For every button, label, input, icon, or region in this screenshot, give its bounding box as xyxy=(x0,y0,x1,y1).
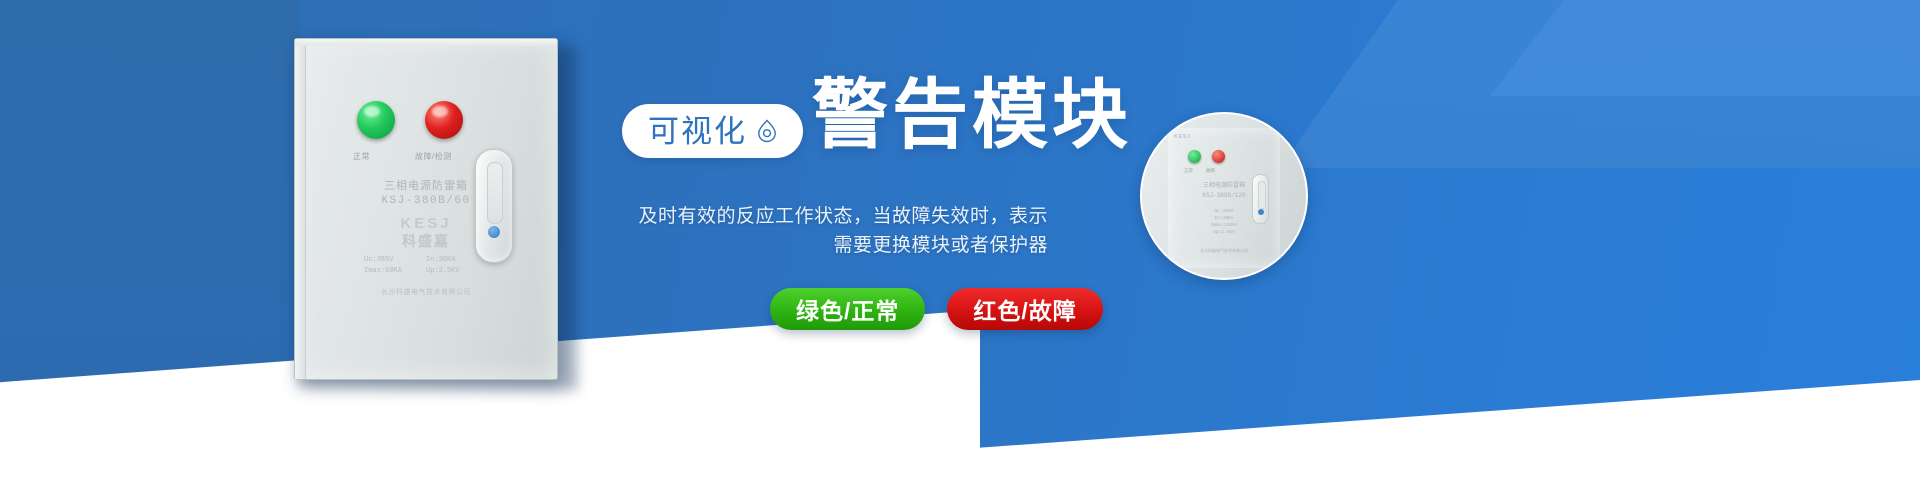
inset-enclosure: KESJ 正常 故障 三相电源防雷箱 KSJ-380D/120 Uc:385V … xyxy=(1168,128,1280,268)
status-badge-group: 绿色/正常 红色/故障 xyxy=(770,288,1103,330)
visualization-badge: 可视化 xyxy=(622,104,803,158)
inset-door-latch xyxy=(1252,174,1269,224)
inset-footer-company: 长沙科盛电气技术有限公司 xyxy=(1168,248,1280,254)
device-inset-photo: KESJ 正常 故障 三相电源防雷箱 KSJ-380D/120 Uc:385V … xyxy=(1140,112,1308,280)
lamp-bezel xyxy=(421,97,467,143)
latch-slot xyxy=(487,162,503,224)
device-enclosure: 正常 故障/检测 三相电源防雷箱 KSJ-380B/60 KESJ 科盛嘉 Uc… xyxy=(294,38,558,380)
indicator-lamp-green xyxy=(357,101,395,139)
device-door-latch xyxy=(475,149,513,263)
device-brand: KESJ xyxy=(295,215,557,232)
device-top-edge xyxy=(295,39,557,46)
lamp-highlight xyxy=(432,106,448,117)
device-title: 三相电源防雷箱 xyxy=(295,177,557,193)
inset-latch-knob xyxy=(1258,209,1264,215)
indicator-lamp-red xyxy=(425,101,463,139)
inset-indicator-lamp-red xyxy=(1212,150,1225,163)
device-photo: 正常 故障/检测 三相电源防雷箱 KSJ-380B/60 KESJ 科盛嘉 Uc… xyxy=(258,30,588,392)
subtitle-line-2: 需要更换模块或者保护器 xyxy=(833,231,1048,260)
lamp-bezel xyxy=(353,97,399,143)
lamp-label-normal: 正常 xyxy=(353,151,370,162)
device-spec-up: Up:2.5KV xyxy=(426,266,488,277)
product-banner: 正常 故障/检测 三相电源防雷箱 KSJ-380B/60 KESJ 科盛嘉 Uc… xyxy=(0,0,1920,500)
inset-lamp-label-normal: 正常 xyxy=(1184,168,1193,174)
status-badge-fault: 红色/故障 xyxy=(947,288,1102,330)
device-footer-company: 长沙科盛电气技术有限公司 xyxy=(295,287,557,297)
inset-lamp-label-fault: 故障 xyxy=(1206,168,1215,174)
inset-indicator-lamp-green xyxy=(1188,150,1201,163)
latch-knob xyxy=(488,226,500,238)
device-spec-uc: Uc:385V xyxy=(364,255,426,266)
status-badge-normal: 绿色/正常 xyxy=(770,288,925,330)
device-spec-block: Uc:385VIn:30KA Imax:60KAUp:2.5KV xyxy=(295,255,557,277)
visualization-badge-label: 可视化 xyxy=(648,116,747,147)
page-title: 警告模块 xyxy=(812,78,1132,154)
inset-brand: KESJ xyxy=(1174,134,1191,140)
device-left-edge xyxy=(295,39,306,379)
device-model: KSJ-380B/60 xyxy=(295,195,557,207)
inset-latch-slot xyxy=(1258,181,1266,209)
eye-diamond-icon xyxy=(757,119,777,143)
background-band-top-right-light xyxy=(1490,0,1920,96)
device-spec-imax: Imax:60KA xyxy=(364,266,426,277)
subtitle-line-1: 及时有效的反应工作状态，当故障失效时，表示 xyxy=(638,202,1048,231)
device-brand-cn: 科盛嘉 xyxy=(295,231,557,251)
lamp-highlight xyxy=(364,106,380,117)
lamp-label-fault: 故障/检测 xyxy=(415,151,452,162)
